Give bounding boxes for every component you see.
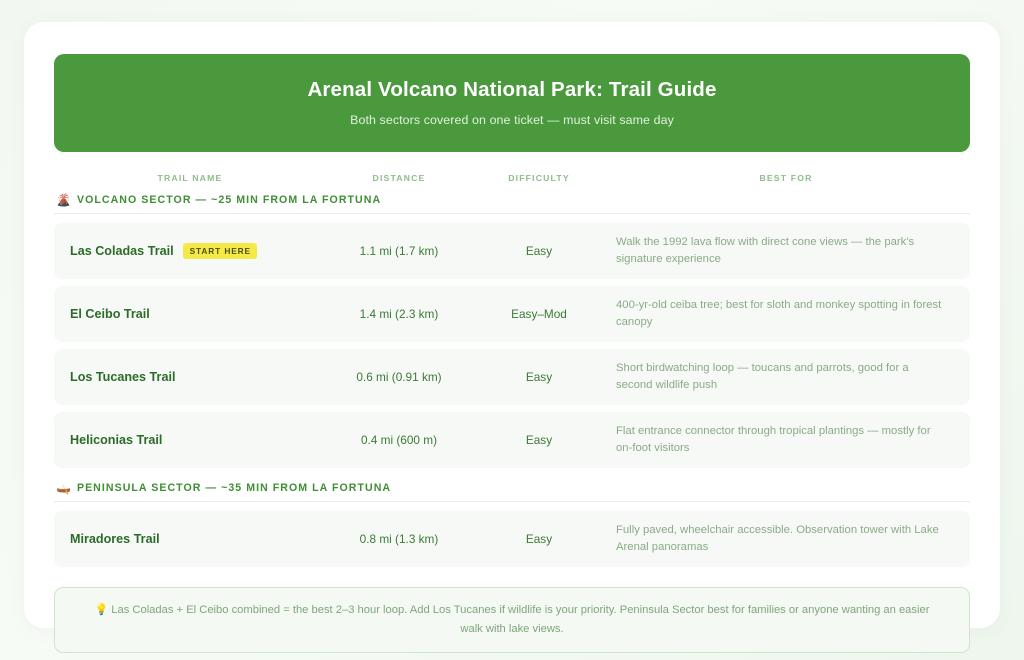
trail-name-cell: Miradores Trail <box>56 532 324 546</box>
trail-name-cell: Los Tucanes Trail <box>56 370 324 384</box>
trail-table: TRAIL NAME DISTANCE DIFFICULTY BEST FOR … <box>54 173 970 574</box>
sector-container: 🌋VOLCANO SECTOR — ~25 MIN FROM LA FORTUN… <box>54 192 970 574</box>
column-header-trail-name: TRAIL NAME <box>56 173 324 183</box>
page-frame: Arenal Volcano National Park: Trail Guid… <box>0 0 1024 660</box>
trail-distance: 0.8 mi (1.3 km) <box>324 532 474 546</box>
page-banner: Arenal Volcano National Park: Trail Guid… <box>54 54 970 152</box>
table-row[interactable]: Los Tucanes Trail0.6 mi (0.91 km)EasySho… <box>54 349 970 405</box>
table-row[interactable]: Las Coladas TrailSTART HERE1.1 mi (1.7 k… <box>54 223 970 279</box>
boat-icon: 🛶 <box>56 482 71 494</box>
page-subtitle: Both sectors covered on one ticket — mus… <box>74 113 950 127</box>
column-header-row: TRAIL NAME DISTANCE DIFFICULTY BEST FOR <box>54 173 970 192</box>
tip-box: 💡Las Coladas + El Ceibo combined = the b… <box>54 587 970 653</box>
sector-label: VOLCANO SECTOR — ~25 MIN FROM LA FORTUNA <box>77 194 381 206</box>
trail-name: Heliconias Trail <box>70 433 162 447</box>
trail-best-for: Short birdwatching loop — toucans and pa… <box>604 360 968 395</box>
trail-difficulty: Easy <box>474 244 604 258</box>
tip-text: Las Coladas + El Ceibo combined = the be… <box>111 604 929 635</box>
trail-distance: 1.4 mi (2.3 km) <box>324 307 474 321</box>
trail-difficulty: Easy <box>474 433 604 447</box>
trail-name-cell: El Ceibo Trail <box>56 307 324 321</box>
sector-header: 🌋VOLCANO SECTOR — ~25 MIN FROM LA FORTUN… <box>54 192 970 214</box>
trail-difficulty: Easy <box>474 370 604 384</box>
trail-difficulty: Easy–Mod <box>474 307 604 321</box>
trail-name: Miradores Trail <box>70 532 160 546</box>
trail-name: El Ceibo Trail <box>70 307 150 321</box>
table-row[interactable]: Miradores Trail0.8 mi (1.3 km)EasyFully … <box>54 511 970 567</box>
table-row[interactable]: El Ceibo Trail1.4 mi (2.3 km)Easy–Mod400… <box>54 286 970 342</box>
column-header-best-for: BEST FOR <box>604 173 968 183</box>
trail-best-for: Flat entrance connector through tropical… <box>604 423 968 458</box>
column-header-distance: DISTANCE <box>324 173 474 183</box>
trail-name-cell: Heliconias Trail <box>56 433 324 447</box>
page-title: Arenal Volcano National Park: Trail Guid… <box>74 78 950 102</box>
table-row[interactable]: Heliconias Trail0.4 mi (600 m)EasyFlat e… <box>54 412 970 468</box>
trail-distance: 0.6 mi (0.91 km) <box>324 370 474 384</box>
trail-guide-card: Arenal Volcano National Park: Trail Guid… <box>24 22 1000 628</box>
volcano-icon: 🌋 <box>56 194 71 206</box>
trail-name: Las Coladas Trail <box>70 244 174 258</box>
trail-name-cell: Las Coladas TrailSTART HERE <box>56 243 324 259</box>
sector-header: 🛶PENINSULA SECTOR — ~35 MIN FROM LA FORT… <box>54 480 970 502</box>
status-badge: START HERE <box>183 243 257 259</box>
trail-distance: 1.1 mi (1.7 km) <box>324 244 474 258</box>
trail-distance: 0.4 mi (600 m) <box>324 433 474 447</box>
trail-difficulty: Easy <box>474 532 604 546</box>
column-header-difficulty: DIFFICULTY <box>474 173 604 183</box>
trail-name: Los Tucanes Trail <box>70 370 175 384</box>
lightbulb-icon: 💡 <box>95 604 109 616</box>
sector-label: PENINSULA SECTOR — ~35 MIN FROM LA FORTU… <box>77 482 391 494</box>
trail-best-for: Walk the 1992 lava flow with direct cone… <box>604 234 968 269</box>
trail-best-for: Fully paved, wheelchair accessible. Obse… <box>604 522 968 557</box>
trail-best-for: 400-yr-old ceiba tree; best for sloth an… <box>604 297 968 332</box>
